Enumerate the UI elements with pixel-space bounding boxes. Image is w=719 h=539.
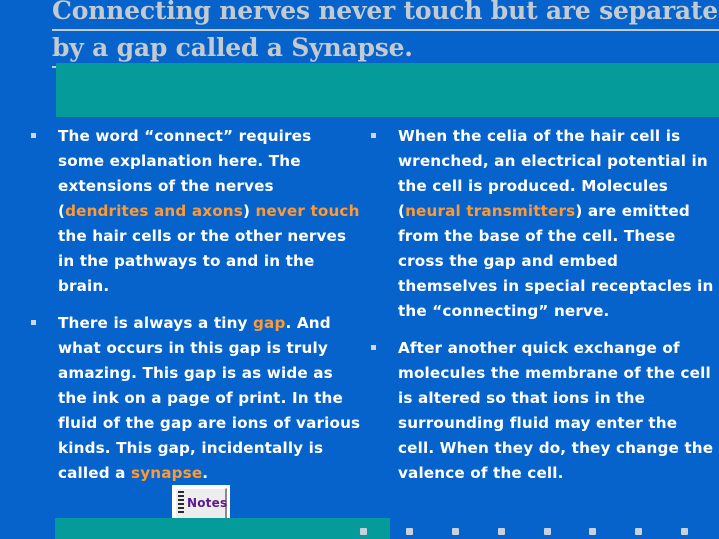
bullet-item: When the celia of the hair cell is wrenc… [362, 124, 714, 324]
decorative-dot-icon [589, 528, 596, 535]
slide-canvas: Connecting nerves never touch but are se… [0, 0, 719, 539]
bullet-item: After another quick exchange of molecule… [362, 336, 714, 486]
decorative-dot-icon [635, 528, 642, 535]
slide-title: Connecting nerves never touch but are se… [52, 0, 692, 68]
bullet-marker-icon [371, 345, 376, 350]
highlighted-text: gap [253, 314, 285, 332]
bullet-text: After another quick exchange of molecule… [398, 339, 713, 482]
teal-header-band [56, 63, 719, 117]
bottom-dot-row [352, 528, 719, 538]
bullet-item: There is always a tiny gap. And what occ… [22, 311, 362, 486]
notes-button-label: Notes [187, 496, 227, 510]
highlighted-text: dendrites and axons [65, 202, 243, 220]
bottom-teal-bar [55, 518, 390, 539]
decorative-dot-icon [498, 528, 505, 535]
right-content-column: When the celia of the hair cell is wrenc… [362, 124, 714, 498]
left-content-column: The word “connect” requires some explana… [22, 124, 362, 498]
slide-title-line-1: Connecting nerves never touch but are se… [52, 0, 719, 31]
decorative-dot-icon [544, 528, 551, 535]
highlighted-text: neural transmitters [405, 202, 575, 220]
notes-button-face: Notes [175, 488, 227, 520]
notepad-spiral-icon [178, 491, 184, 519]
bullet-text: . [202, 464, 208, 482]
bullet-marker-icon [31, 320, 36, 325]
bullet-item: The word “connect” requires some explana… [22, 124, 362, 299]
bullet-marker-icon [31, 133, 36, 138]
decorative-dot-icon [406, 528, 413, 535]
decorative-dot-icon [681, 528, 688, 535]
decorative-dot-icon [360, 528, 367, 535]
bullet-marker-icon [371, 133, 376, 138]
bullet-text: ) [243, 202, 256, 220]
bullet-text: the hair cells or the other nerves in th… [58, 227, 346, 295]
highlighted-text: synapse [131, 464, 202, 482]
bullet-text: . And what occurs in this gap is truly a… [58, 314, 360, 482]
highlighted-text: never touch [255, 202, 359, 220]
decorative-dot-icon [452, 528, 459, 535]
bullet-text: There is always a tiny [58, 314, 253, 332]
